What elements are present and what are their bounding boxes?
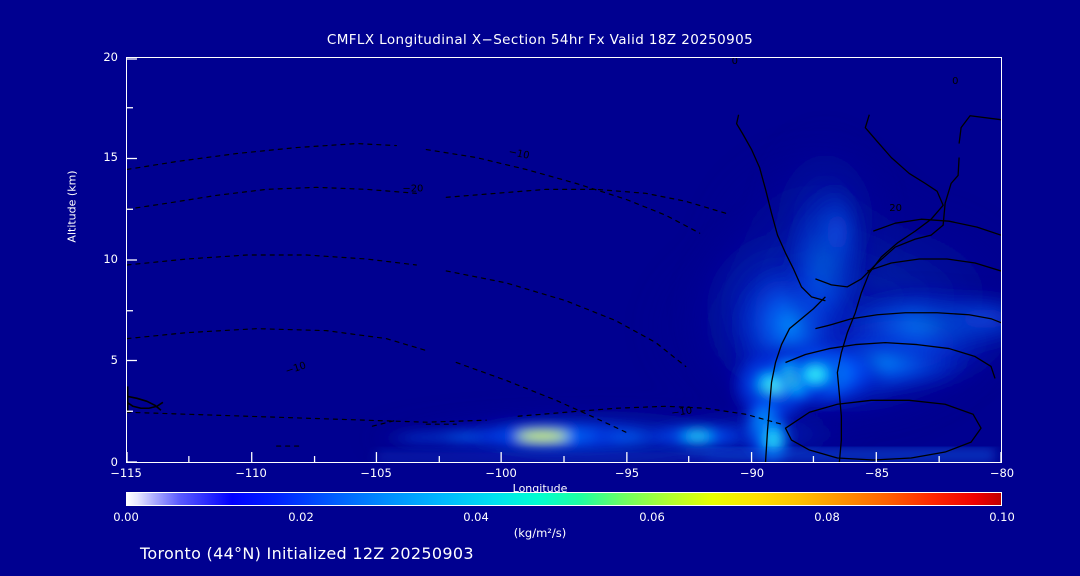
- xtick-7: −80: [972, 466, 1032, 480]
- contour-label-neg20: −20: [402, 183, 423, 194]
- contour-label-0-right: 0: [952, 76, 958, 87]
- dashed-contours: [127, 144, 782, 447]
- chart-title: CMFLX Longitudinal X−Section 54hr Fx Val…: [0, 32, 1080, 48]
- colorbar-tick-4: 0.08: [792, 510, 862, 524]
- figure-root: CMFLX Longitudinal X−Section 54hr Fx Val…: [0, 0, 1080, 576]
- colorbar-tick-2: 0.04: [441, 510, 511, 524]
- solid-contours: [127, 115, 1001, 462]
- ytick-2: 10: [78, 252, 118, 266]
- ytick-1: 5: [78, 353, 118, 367]
- contour-label-20: 20: [889, 203, 902, 214]
- xtick-6: −85: [847, 466, 907, 480]
- ytick-4: 20: [78, 50, 118, 64]
- ytick-0: 0: [78, 455, 118, 469]
- y-axis-label: Altitude (km): [66, 127, 79, 287]
- footer-caption: Toronto (44°N) Initialized 12Z 20250903: [140, 544, 474, 563]
- xtick-2: −105: [346, 466, 406, 480]
- contour-label-neg10-upper: −10: [508, 147, 531, 162]
- colorbar-tick-5: 0.10: [967, 510, 1037, 524]
- colorbar-tick-1: 0.02: [266, 510, 336, 524]
- xtick-5: −90: [722, 466, 782, 480]
- colorbar: [126, 492, 1002, 506]
- xtick-1: −110: [221, 466, 281, 480]
- contour-label-neg10-surface: −10: [671, 405, 693, 419]
- contour-label-0-top: 0: [732, 58, 738, 67]
- colorbar-unit-label: (kg/m²/s): [0, 526, 1080, 540]
- plot-canvas: −10 −20 −10 −10 20 0 0: [127, 58, 1001, 462]
- contour-label-group: −10 −20 −10 −10 20 0 0: [284, 58, 958, 419]
- plot-area: −10 −20 −10 −10 20 0 0: [126, 57, 1002, 463]
- colorbar-tick-3: 0.06: [617, 510, 687, 524]
- temperature-contours: −10 −20 −10 −10 20 0 0: [127, 58, 1001, 462]
- tick-marks: [127, 59, 1001, 462]
- xtick-4: −95: [597, 466, 657, 480]
- colorbar-tick-0: 0.00: [91, 510, 161, 524]
- xtick-3: −100: [471, 466, 531, 480]
- ytick-3: 15: [78, 150, 118, 164]
- contour-label-neg10-low: −10: [284, 360, 307, 377]
